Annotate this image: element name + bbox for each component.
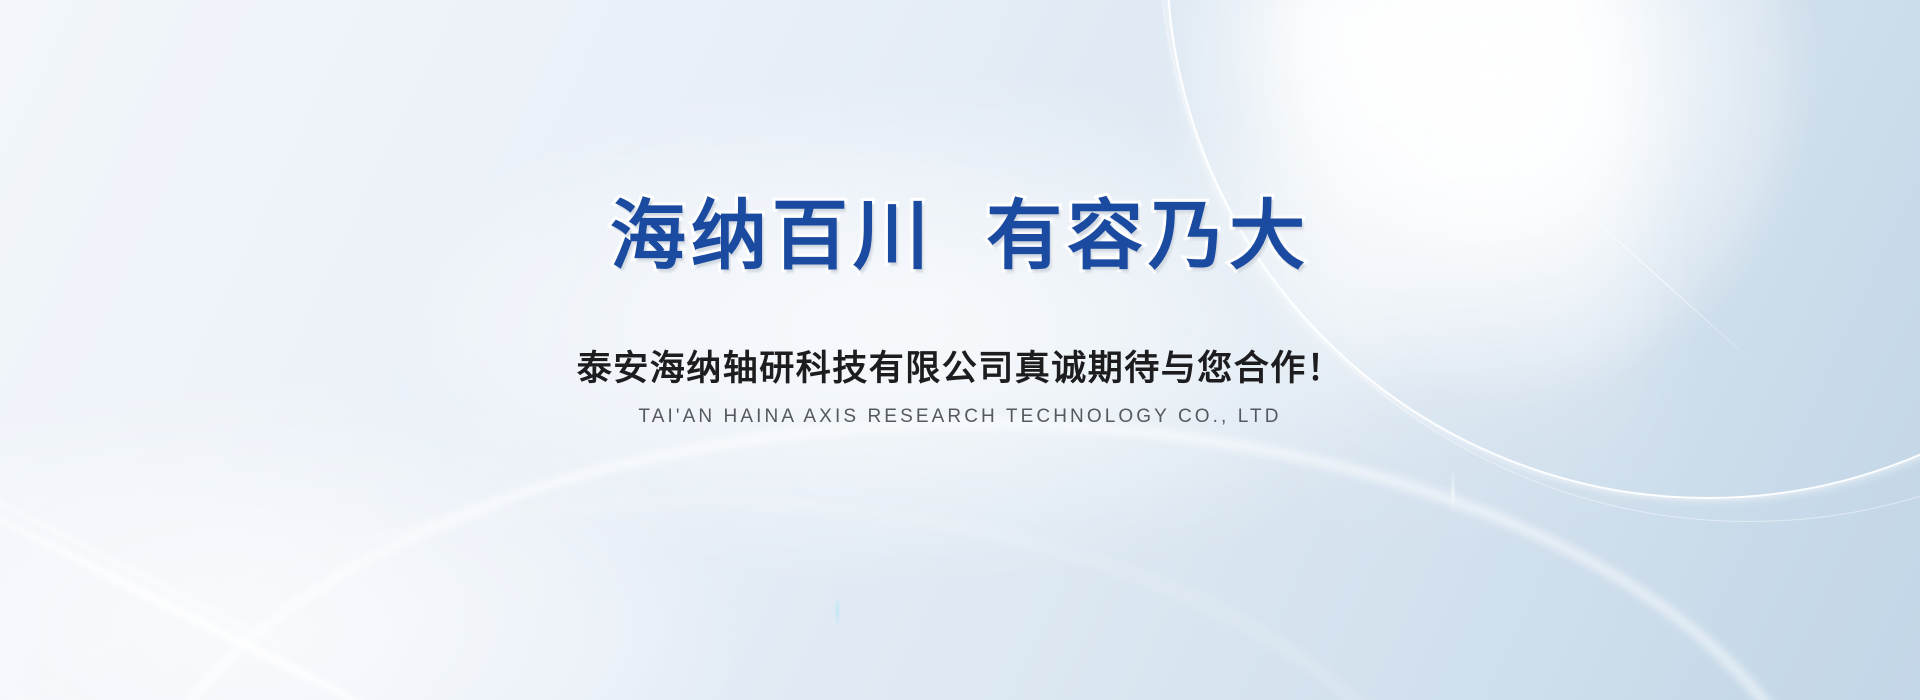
banner-content: 海纳百川 有容乃大 泰安海纳轴研科技有限公司真诚期待与您合作！ TAI'AN H…	[0, 0, 1920, 700]
banner-headline: 海纳百川 有容乃大	[610, 196, 1310, 278]
banner-subtitle-english: TAI'AN HAINA AXIS RESEARCH TECHNOLOGY CO…	[638, 406, 1281, 428]
hero-banner: 海纳百川 有容乃大 泰安海纳轴研科技有限公司真诚期待与您合作！ TAI'AN H…	[0, 0, 1920, 700]
banner-subtitle-chinese: 泰安海纳轴研科技有限公司真诚期待与您合作！	[577, 340, 1344, 391]
